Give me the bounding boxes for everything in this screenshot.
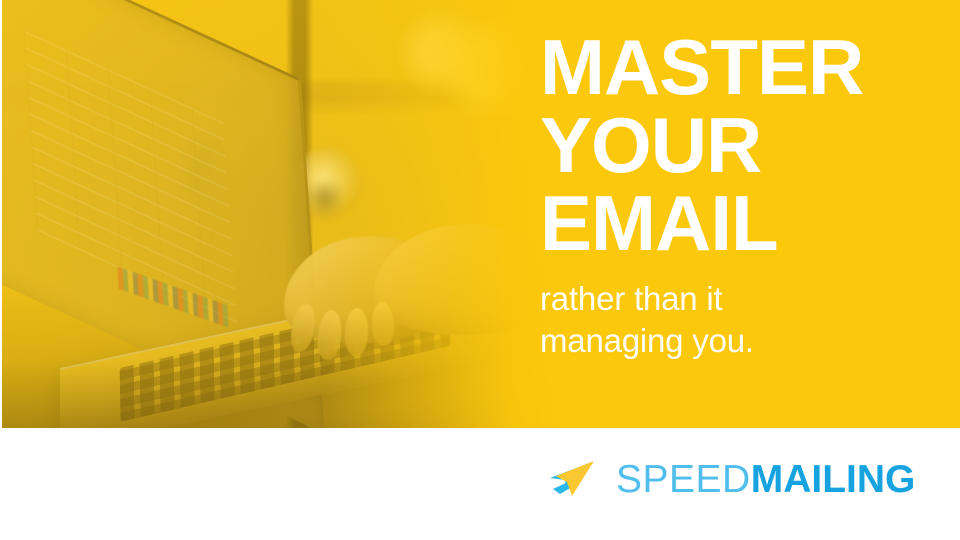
paper-plane-icon (548, 458, 602, 500)
page-title: MASTER YOUR EMAIL (540, 28, 940, 262)
hero-copy: MASTER YOUR EMAIL rather than it managin… (540, 28, 940, 362)
marketing-banner: MASTER YOUR EMAIL rather than it managin… (0, 0, 960, 540)
hero-band: MASTER YOUR EMAIL rather than it managin… (0, 0, 960, 428)
footer-bar: SPEEDMAILING (0, 428, 960, 540)
left-edge-sliver (0, 0, 2, 428)
brand-word-speed: SPEED (616, 458, 751, 501)
photo-right-fade (0, 0, 560, 428)
headline-line-2: YOUR (540, 106, 940, 184)
subtitle: rather than it managing you. (540, 278, 940, 362)
headline-line-3: EMAIL (540, 184, 940, 262)
subtitle-line-1: rather than it (540, 278, 940, 320)
headline-line-1: MASTER (540, 28, 940, 106)
hero-photo (0, 0, 560, 428)
brand-word-mailing: MAILING (751, 458, 916, 501)
brand-wordmark: SPEEDMAILING (616, 460, 915, 499)
brand-logo[interactable]: SPEEDMAILING (548, 458, 915, 500)
subtitle-line-2: managing you. (540, 320, 940, 362)
